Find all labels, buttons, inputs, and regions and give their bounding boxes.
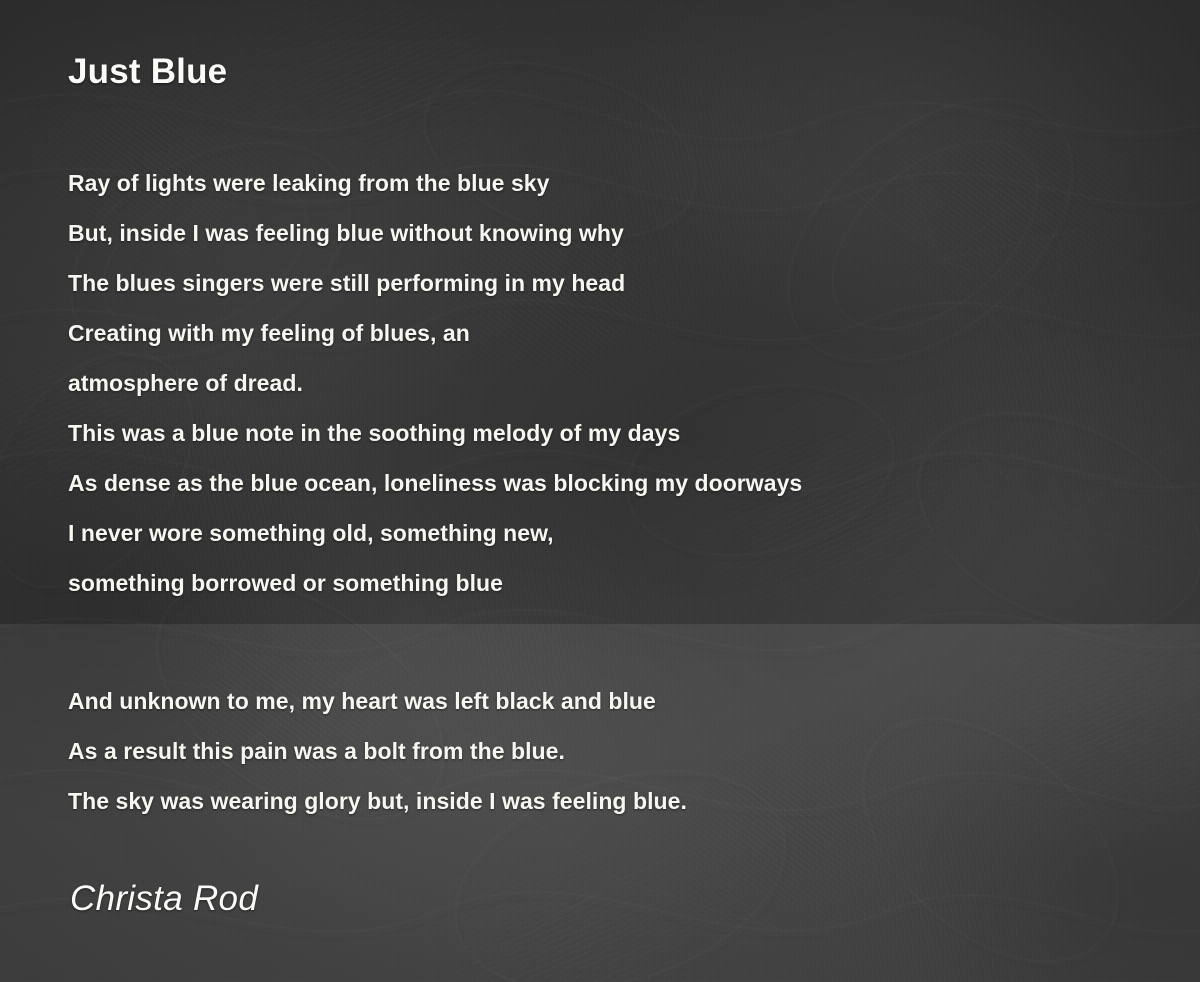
poem-line: The blues singers were still performing … [68,258,802,308]
poem-line: And unknown to me, my heart was left bla… [68,676,687,726]
poem-line: As a result this pain was a bolt from th… [68,726,687,776]
poem-image-card: Just Blue Ray of lights were leaking fro… [0,0,1200,982]
poem-line: But, inside I was feeling blue without k… [68,208,802,258]
poem-line: something borrowed or something blue [68,558,802,608]
poem-line: Ray of lights were leaking from the blue… [68,158,802,208]
poem-line: I never wore something old, something ne… [68,508,802,558]
poem-title: Just Blue [68,52,227,92]
poem-line: The sky was wearing glory but, inside I … [68,776,687,826]
poem-author: Christa Rod [70,879,258,919]
poem-line: As dense as the blue ocean, loneliness w… [68,458,802,508]
poem-stanza-1: Ray of lights were leaking from the blue… [68,158,802,608]
poem-line: This was a blue note in the soothing mel… [68,408,802,458]
poem-content: Just Blue Ray of lights were leaking fro… [0,0,1200,982]
poem-line: atmosphere of dread. [68,358,802,408]
poem-line: Creating with my feeling of blues, an [68,308,802,358]
poem-stanza-2: And unknown to me, my heart was left bla… [68,676,687,826]
